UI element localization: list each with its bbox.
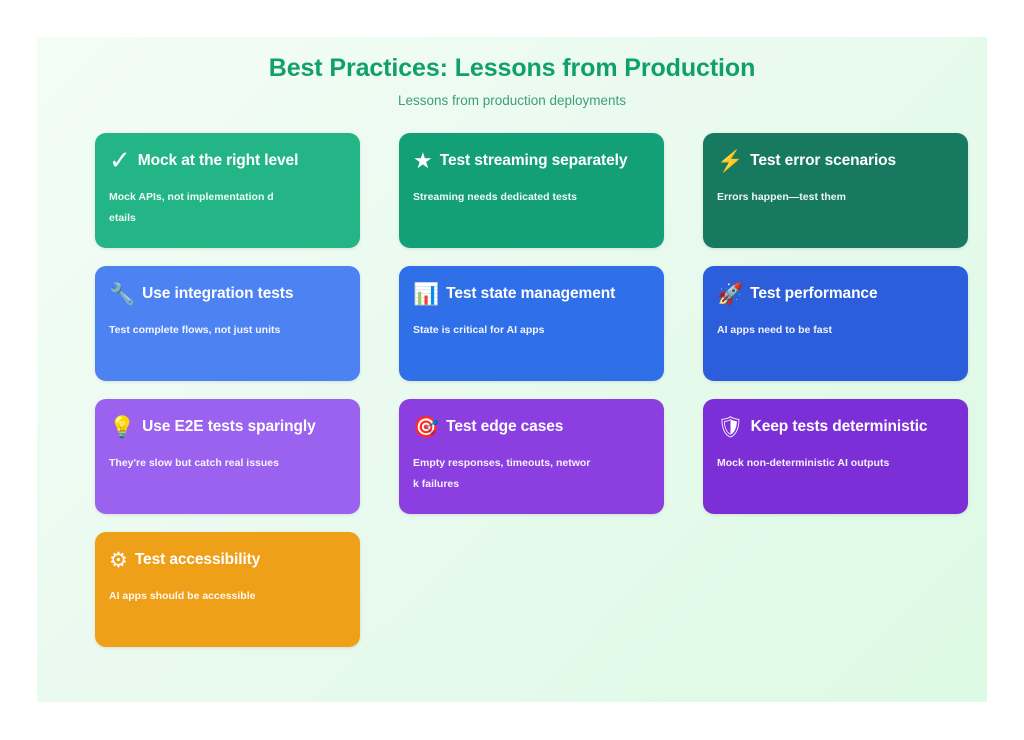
best-practices-card-grid: ✓Mock at the right levelMock APIs, not i…	[95, 133, 968, 647]
card-description: Errors happen—test them	[717, 187, 897, 208]
star-icon: ★	[413, 150, 433, 172]
card-header: ✓Mock at the right level	[109, 148, 346, 174]
practice-card[interactable]: 🔧Use integration testsTest complete flow…	[95, 266, 360, 381]
gear-icon: ⚙	[109, 550, 128, 571]
slide-header: Best Practices: Lessons from Production …	[37, 37, 987, 108]
card-header: 💡Use E2E tests sparingly	[109, 414, 346, 440]
practice-card[interactable]: ✓Mock at the right levelMock APIs, not i…	[95, 133, 360, 248]
card-description: They're slow but catch real issues	[109, 453, 339, 474]
card-header: ⚙Test accessibility	[109, 547, 346, 573]
wrench-icon: 🔧	[109, 284, 135, 305]
page-subtitle: Lessons from production deployments	[37, 93, 987, 108]
card-description: Empty responses, timeouts, network failu…	[413, 453, 593, 495]
rocket-icon: 🚀	[717, 284, 743, 305]
card-header: 🚀Test performance	[717, 281, 954, 307]
card-description: Streaming needs dedicated tests	[413, 187, 643, 208]
card-header: 🔧Use integration tests	[109, 281, 346, 307]
lightning-bolt-icon: ⚡	[717, 151, 743, 172]
bar-chart-icon: 📊	[413, 284, 439, 305]
practice-card[interactable]: 📊Test state managementState is critical …	[399, 266, 664, 381]
check-icon: ✓	[109, 147, 131, 173]
card-header: 🎯Test edge cases	[413, 414, 650, 440]
card-description: Mock APIs, not implementation details	[109, 187, 277, 229]
card-title: Test performance	[750, 285, 877, 303]
practice-card[interactable]: 🛡Keep tests deterministicMock non-determ…	[703, 399, 968, 514]
card-title: Use integration tests	[142, 285, 293, 303]
card-title: Use E2E tests sparingly	[142, 418, 315, 436]
card-title: Mock at the right level	[138, 152, 299, 170]
card-description: AI apps should be accessible	[109, 586, 289, 607]
card-header: 📊Test state management	[413, 281, 650, 307]
target-icon: 🎯	[413, 417, 439, 438]
card-title: Test edge cases	[446, 418, 563, 436]
card-title: Test error scenarios	[750, 152, 896, 170]
practice-card[interactable]: ★Test streaming separatelyStreaming need…	[399, 133, 664, 248]
practice-card[interactable]: ⚙Test accessibilityAI apps should be acc…	[95, 532, 360, 647]
lightbulb-icon: 💡	[109, 417, 135, 438]
practice-card[interactable]: 🚀Test performanceAI apps need to be fast	[703, 266, 968, 381]
card-description: State is critical for AI apps	[413, 320, 593, 341]
card-title: Test state management	[446, 285, 615, 303]
card-description: AI apps need to be fast	[717, 320, 897, 341]
card-header: ⚡Test error scenarios	[717, 148, 954, 174]
card-header: ★Test streaming separately	[413, 148, 650, 174]
card-description: Mock non-deterministic AI outputs	[717, 453, 897, 474]
card-description: Test complete flows, not just units	[109, 320, 339, 341]
card-header: 🛡Keep tests deterministic	[717, 414, 954, 440]
practice-card[interactable]: ⚡Test error scenariosErrors happen—test …	[703, 133, 968, 248]
card-title: Test streaming separately	[440, 152, 628, 170]
practice-card[interactable]: 🎯Test edge casesEmpty responses, timeout…	[399, 399, 664, 514]
practice-card[interactable]: 💡Use E2E tests sparinglyThey're slow but…	[95, 399, 360, 514]
shield-icon: 🛡	[717, 417, 744, 438]
card-title: Keep tests deterministic	[751, 418, 928, 436]
card-title: Test accessibility	[135, 551, 260, 569]
page-title: Best Practices: Lessons from Production	[37, 55, 987, 83]
slide-container: Best Practices: Lessons from Production …	[37, 37, 987, 702]
